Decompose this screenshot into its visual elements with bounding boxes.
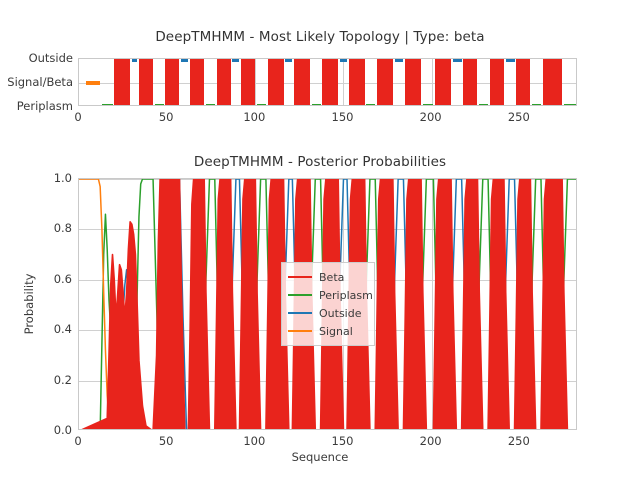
topology-segment-outside: [285, 59, 292, 62]
posterior-xtick-100: 100: [243, 434, 265, 448]
topology-segment-beta: [377, 59, 393, 106]
topology-title: DeepTMHMM - Most Likely Topology | Type:…: [0, 29, 640, 45]
legend-item-outside[interactable]: Outside: [288, 304, 366, 322]
legend-swatch-outside-icon: [288, 312, 312, 314]
posterior-title: DeepTMHMM - Posterior Probabilities: [0, 154, 640, 170]
legend-swatch-beta-icon: [288, 276, 312, 278]
topology-ytick-signal-beta: Signal/Beta: [0, 75, 73, 89]
topology-xtick-200: 200: [420, 110, 442, 124]
topology-gridline-v: [343, 59, 344, 105]
posterior-panel: DeepTMHMM - Posterior Probabilities Sequ…: [0, 140, 640, 480]
topology-segment-beta: [322, 59, 338, 106]
topology-xtick-50: 50: [159, 110, 174, 124]
topology-segment-beta: [405, 59, 421, 106]
topology-xtick-0: 0: [74, 110, 81, 124]
legend-item-periplasm[interactable]: Periplasm: [288, 286, 366, 304]
posterior-xtick-250: 250: [508, 434, 530, 448]
topology-segment-beta: [543, 59, 562, 106]
topology-segment-beta: [114, 59, 130, 106]
legend-label: Signal: [319, 325, 353, 338]
legend-swatch-signal-icon: [288, 330, 312, 332]
topology-segment-beta: [139, 59, 153, 106]
x-axis-label: Sequence: [0, 450, 640, 464]
topology-xtick-100: 100: [243, 110, 265, 124]
topology-segment-beta: [516, 59, 530, 106]
topology-segment-beta: [463, 59, 477, 106]
topology-segment-outside: [132, 59, 137, 62]
legend-item-beta[interactable]: Beta: [288, 268, 366, 286]
topology-segment-periplasm: [564, 104, 577, 106]
posterior-ytick-0-6: 0.6: [0, 272, 72, 286]
topology-segment-outside: [181, 59, 188, 62]
topology-segment-outside: [395, 59, 404, 62]
topology-panel: DeepTMHMM - Most Likely Topology | Type:…: [0, 0, 640, 140]
posterior-ytick-0-4: 0.4: [0, 322, 72, 336]
topology-segment-periplasm: [479, 104, 488, 106]
topology-gridline-v: [432, 59, 433, 105]
posterior-ytick-0-0: 0.0: [0, 423, 72, 437]
topology-ytick-periplasm: Periplasm: [0, 99, 73, 113]
topology-segment-beta: [268, 59, 284, 106]
topology-segment-beta: [165, 59, 179, 106]
deeptmhmm-figure: DeepTMHMM - Most Likely Topology | Type:…: [0, 0, 640, 480]
topology-xtick-150: 150: [332, 110, 354, 124]
legend-label: Beta: [319, 271, 344, 284]
posterior-ytick-0-2: 0.2: [0, 373, 72, 387]
topology-segment-outside: [506, 59, 515, 62]
topology-segment-beta: [294, 59, 310, 106]
posterior-xtick-200: 200: [420, 434, 442, 448]
topology-segment-outside: [340, 59, 347, 62]
topology-segment-periplasm: [312, 104, 321, 106]
topology-plot-area: [78, 58, 577, 106]
topology-segment-beta: [490, 59, 504, 106]
legend-swatch-periplasm-icon: [288, 294, 312, 296]
legend-label: Periplasm: [319, 289, 373, 302]
posterior-xtick-50: 50: [159, 434, 174, 448]
posterior-ytick-1-0: 1.0: [0, 171, 72, 185]
topology-segment-periplasm: [102, 104, 113, 106]
topology-segment-periplasm: [532, 104, 541, 106]
legend-label: Outside: [319, 307, 361, 320]
topology-segment-periplasm: [155, 104, 164, 106]
topology-xtick-250: 250: [508, 110, 530, 124]
topology-segment-beta: [217, 59, 231, 106]
topology-segment-outside: [232, 59, 239, 62]
posterior-ytick-0-8: 0.8: [0, 221, 72, 235]
topology-segment-periplasm: [366, 104, 375, 106]
topology-gridline-v: [255, 59, 256, 105]
topology-ytick-outside: Outside: [0, 51, 73, 65]
topology-segment-outside: [453, 59, 462, 62]
topology-segment-signal: [86, 81, 100, 85]
posterior-xtick-0: 0: [74, 434, 81, 448]
topology-segment-periplasm: [257, 104, 266, 106]
topology-segment-periplasm: [206, 104, 215, 106]
posterior-xtick-150: 150: [332, 434, 354, 448]
chart-legend: BetaPeriplasmOutsideSignal: [281, 262, 375, 346]
topology-segment-beta: [241, 59, 255, 106]
legend-item-signal[interactable]: Signal: [288, 322, 366, 340]
topology-segment-beta: [349, 59, 365, 106]
topology-segment-periplasm: [423, 104, 434, 106]
topology-segment-beta: [190, 59, 204, 106]
topology-segment-beta: [435, 59, 451, 106]
